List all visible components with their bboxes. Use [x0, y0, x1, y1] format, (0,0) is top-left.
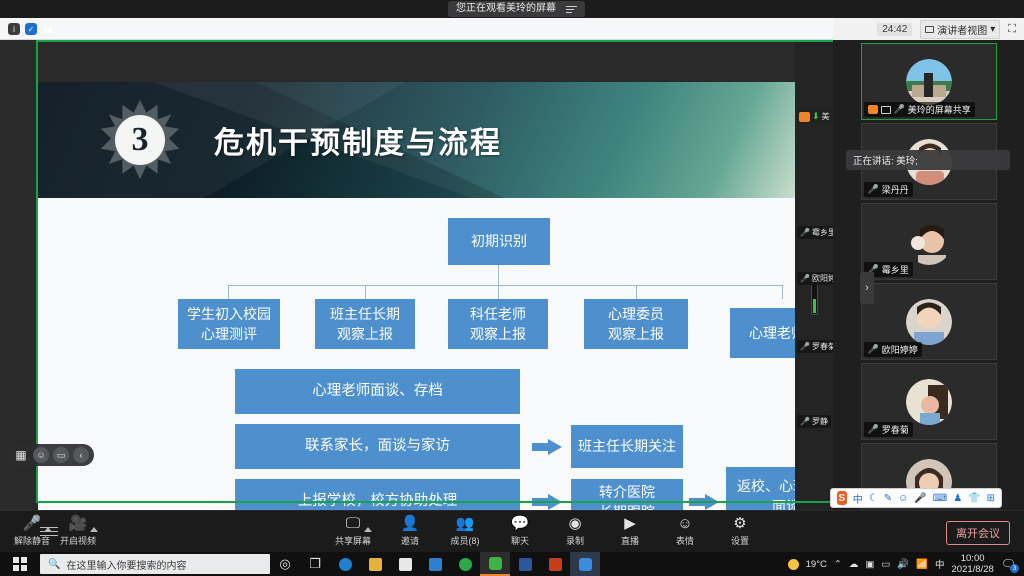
- mic-off-icon: 🎤: [800, 228, 810, 237]
- info-icon: i: [8, 23, 20, 35]
- connector-drop-4: [636, 285, 637, 299]
- connector-drop-5: [782, 285, 783, 299]
- participant-name-badge-4: 🎤 罗春菊: [864, 422, 913, 437]
- participant-name-badge-1: 🎤 梁丹丹: [864, 182, 913, 197]
- taskbar-app-edge[interactable]: [330, 552, 360, 576]
- mic-icon: 🎤: [894, 104, 905, 115]
- chevron-down-icon: ▾: [990, 24, 995, 35]
- grid-tools-icon[interactable]: ▦: [13, 447, 29, 463]
- cloud-sync-icon[interactable]: ☁: [849, 559, 859, 570]
- ime-menu-icon[interactable]: ⊞: [987, 493, 995, 504]
- flow-node-row-1: 班主任长期观察上报: [315, 299, 415, 349]
- share-options-caret[interactable]: [364, 527, 372, 532]
- video-off-icon: 🎥: [69, 515, 88, 532]
- share-screen-button[interactable]: 🖵 共享屏幕: [325, 515, 381, 551]
- video-options-caret[interactable]: [90, 527, 98, 532]
- clock-time: 10:00: [952, 553, 994, 564]
- connector-drop-2: [365, 285, 366, 299]
- leave-meeting-button[interactable]: 离开会议: [946, 521, 1010, 545]
- avatar: [906, 219, 952, 265]
- tray-app-icon[interactable]: ▣: [865, 559, 874, 570]
- annotation-toolbar[interactable]: ▦ ☺ ▭ ‹: [8, 444, 94, 466]
- avatar: [906, 59, 952, 105]
- screen-icon: [881, 106, 891, 114]
- avatar: [906, 299, 952, 345]
- speaking-toast: 正在讲话: 美玲;: [846, 150, 1010, 170]
- emoji-icon: ☺: [677, 515, 692, 532]
- volume-icon[interactable]: 🔊: [897, 559, 909, 570]
- mic-off-icon: 🎤: [800, 342, 810, 351]
- participant-tile-3[interactable]: 🎤 欧阳婷婷: [861, 283, 997, 360]
- windows-logo-icon: [13, 557, 27, 571]
- slide-lines-decoration: [40, 524, 58, 536]
- avatar: [906, 379, 952, 425]
- side-participant-strip: ⬇ 美 🎤 霉乡里 🎤 欧阳婷 🎤 罗春菊 🎤 罗静: [795, 40, 833, 510]
- meeting-control-bar: 🎤 解除静音 🎥 开启视频 🖵 共享屏幕 👤 邀请 👥 成员(8) 💬 聊天 ◉: [0, 510, 1024, 552]
- slide-body: 初期识别 学生初入校园心理测评 班主任长期观察上报 科任老师观察上报: [38, 198, 803, 525]
- flow-node-row-0: 学生初入校园心理测评: [178, 299, 280, 349]
- ime-moon-icon[interactable]: ☾: [869, 493, 878, 504]
- video-button[interactable]: 🎥 开启视频: [50, 515, 106, 551]
- mic-off-icon: 🎤: [800, 274, 810, 283]
- participant-name-badge-0: 🎤 美玲的屏幕共享: [864, 102, 975, 117]
- ime-punct-icon[interactable]: ✎: [884, 493, 892, 504]
- strip-share-label: 美: [822, 111, 830, 122]
- connector-root-down: [498, 265, 499, 285]
- record-button[interactable]: ◉ 录制: [547, 515, 603, 551]
- flow-node-root: 初期识别: [448, 218, 550, 265]
- mic-off-icon: 🎤: [800, 417, 810, 426]
- participant-tile-4[interactable]: 🎤 罗春菊: [861, 363, 997, 440]
- participant-tile-0[interactable]: 🎤 美玲的屏幕共享: [861, 43, 997, 120]
- share-icon: [799, 112, 810, 122]
- participant-tile-2[interactable]: 🎤 霉乡里: [861, 203, 997, 280]
- notification-center-icon[interactable]: 🗨 3: [1001, 557, 1016, 571]
- emoji-icon[interactable]: ☺: [33, 447, 49, 463]
- battery-icon[interactable]: ▭: [881, 559, 890, 570]
- panel-collapse-button[interactable]: ›: [860, 272, 874, 304]
- ime-tools-icon[interactable]: ♟: [953, 493, 962, 504]
- taskbar-app-store[interactable]: [390, 552, 420, 576]
- taskbar-app-media[interactable]: [450, 552, 480, 576]
- slide-title: 危机干预制度与流程: [214, 118, 502, 162]
- collapse-left-icon[interactable]: ‹: [73, 447, 89, 463]
- ime-toolbar[interactable]: S 中 ☾ ✎ ☺ 🎤 ⌨ ♟ 👕 ⊞: [830, 488, 1002, 508]
- chat-icon: 💬: [511, 515, 530, 532]
- menu-icon[interactable]: [566, 4, 577, 15]
- signal-bars-icon: ▮▮: [42, 23, 54, 35]
- ime-indicator[interactable]: 中: [935, 557, 945, 571]
- shared-screen-stage: 3 危机干预制度与流程 初期识别 学生初入校园心理测评: [0, 40, 833, 510]
- share-status-text: 您正在观看美玲的屏幕: [456, 1, 556, 17]
- slide-header: 3 危机干预制度与流程: [38, 82, 803, 198]
- monitor-icon: [925, 26, 934, 33]
- strip-name-1: 🎤 欧阳婷: [797, 272, 833, 285]
- share-icon: [868, 105, 878, 114]
- chat-bubble-icon[interactable]: ▭: [53, 447, 69, 463]
- livestream-icon: ▶: [624, 515, 636, 532]
- settings-button[interactable]: ⚙ 设置: [712, 515, 768, 551]
- settings-gear-icon: ⚙: [733, 515, 746, 532]
- chat-button[interactable]: 💬 聊天: [492, 515, 548, 551]
- system-tray: 19°C ⌃ ☁ ▣ ▭ 🔊 📶 中 10:00 2021/8/28 🗨 3: [788, 553, 1024, 575]
- taskbar-app-zoom[interactable]: [570, 552, 600, 576]
- meeting-timer: 24:42: [877, 23, 912, 36]
- mic-off-icon: 🎤: [868, 344, 879, 355]
- emoji-button[interactable]: ☺ 表情: [657, 515, 713, 551]
- mic-off-icon: 🎤: [868, 424, 879, 435]
- ime-voice-icon[interactable]: 🎤: [914, 493, 926, 504]
- download-arrow-icon: ⬇: [812, 111, 820, 122]
- tray-expand-icon[interactable]: ⌃: [834, 559, 842, 570]
- flow-node-stage-1: 联系家长，面谈与家访: [235, 424, 520, 469]
- participant-panel: 24:42 演讲者视图 ▾ ⛶: [833, 18, 1024, 510]
- weather-temp[interactable]: 19°C: [806, 559, 827, 570]
- share-screen-icon: 🖵: [346, 515, 360, 532]
- ime-keyboard-icon[interactable]: ⌨: [933, 493, 947, 504]
- flow-node-mid-0: 班主任长期关注: [571, 425, 683, 468]
- arrow-stage1-to-mid0: [532, 439, 562, 455]
- flow-node-row-3: 心理委员观察上报: [584, 299, 688, 349]
- record-icon: ◉: [568, 515, 581, 532]
- strip-share-badges: ⬇ 美: [797, 110, 832, 123]
- participant-name-badge-3: 🎤 欧阳婷婷: [864, 342, 922, 357]
- share-status-pill[interactable]: 您正在观看美玲的屏幕: [448, 1, 585, 17]
- invite-button[interactable]: 👤 邀请: [382, 515, 438, 551]
- mic-off-icon: 🎤: [23, 515, 42, 532]
- arrow-mid1-to-end: [689, 494, 719, 510]
- livestream-button[interactable]: ▶ 直播: [602, 515, 658, 551]
- fullscreen-icon[interactable]: ⛶: [1008, 23, 1016, 36]
- flow-node-row-2: 科任老师观察上报: [448, 299, 548, 349]
- flow-node-stage-0: 心理老师面谈、存档: [235, 369, 520, 414]
- screen-root: 您正在观看美玲的屏幕 i ✓ ▮▮ 3 危机干预制度与流程 初期识别: [0, 0, 1024, 576]
- search-icon: 🔍: [48, 559, 60, 570]
- clock-date: 2021/8/28: [952, 564, 994, 575]
- shield-icon: ✓: [25, 23, 37, 35]
- weather-sun-icon: [788, 559, 799, 570]
- strip-name-3: 🎤 罗静: [797, 415, 831, 428]
- connector-horizontal: [228, 285, 782, 286]
- ime-emoji-icon[interactable]: ☺: [898, 493, 908, 504]
- strip-name-2: 🎤 罗春菊: [797, 340, 833, 353]
- taskbar-app-wechat[interactable]: [480, 552, 510, 576]
- network-icon[interactable]: 📶: [916, 559, 928, 570]
- screen-share-banner: 您正在观看美玲的屏幕: [0, 0, 1024, 18]
- task-view-icon[interactable]: ❐: [300, 552, 330, 576]
- strip-name-0: 🎤 霉乡里: [797, 226, 833, 239]
- mic-off-icon: 🎤: [868, 184, 879, 195]
- connector-drop-3: [498, 285, 499, 299]
- ime-skin-icon[interactable]: 👕: [968, 493, 980, 504]
- participants-button[interactable]: 👥 成员(8): [437, 515, 493, 551]
- start-button[interactable]: [0, 552, 40, 576]
- section-number: 3: [115, 115, 165, 165]
- search-input[interactable]: 🔍 在这里输入你要搜索的内容: [40, 554, 270, 574]
- search-placeholder: 在这里输入你要搜索的内容: [66, 557, 186, 572]
- presentation-slide: 3 危机干预制度与流程 初期识别 学生初入校园心理测评: [38, 82, 803, 525]
- connector-drop-1: [228, 285, 229, 299]
- flow-node-row-4: 心理老师识: [730, 308, 803, 358]
- taskbar-app-word[interactable]: [510, 552, 540, 576]
- notification-count: 3: [1010, 564, 1019, 573]
- panel-header: 24:42 演讲者视图 ▾ ⛶: [833, 18, 1024, 40]
- arrow-stage2-to-mid1: [532, 494, 562, 510]
- invite-icon: 👤: [401, 515, 420, 532]
- view-mode-selector[interactable]: 演讲者视图 ▾: [920, 20, 1000, 39]
- clock[interactable]: 10:00 2021/8/28: [952, 553, 994, 575]
- taskbar-app-powerpoint[interactable]: [540, 552, 570, 576]
- taskbar-app-mail[interactable]: [420, 552, 450, 576]
- section-number-badge: 3: [100, 100, 180, 180]
- participants-icon: 👥: [456, 515, 475, 532]
- ime-lang-icon[interactable]: 中: [853, 491, 863, 506]
- sogou-logo-icon[interactable]: S: [837, 491, 847, 505]
- view-mode-label: 演讲者视图: [937, 22, 987, 37]
- cortana-icon[interactable]: ◎: [270, 552, 300, 576]
- taskbar-app-explorer[interactable]: [360, 552, 390, 576]
- windows-taskbar: 🔍 在这里输入你要搜索的内容 ◎ ❐ 19°C ⌃ ☁ ▣ ▭ 🔊 📶 中 10…: [0, 552, 1024, 576]
